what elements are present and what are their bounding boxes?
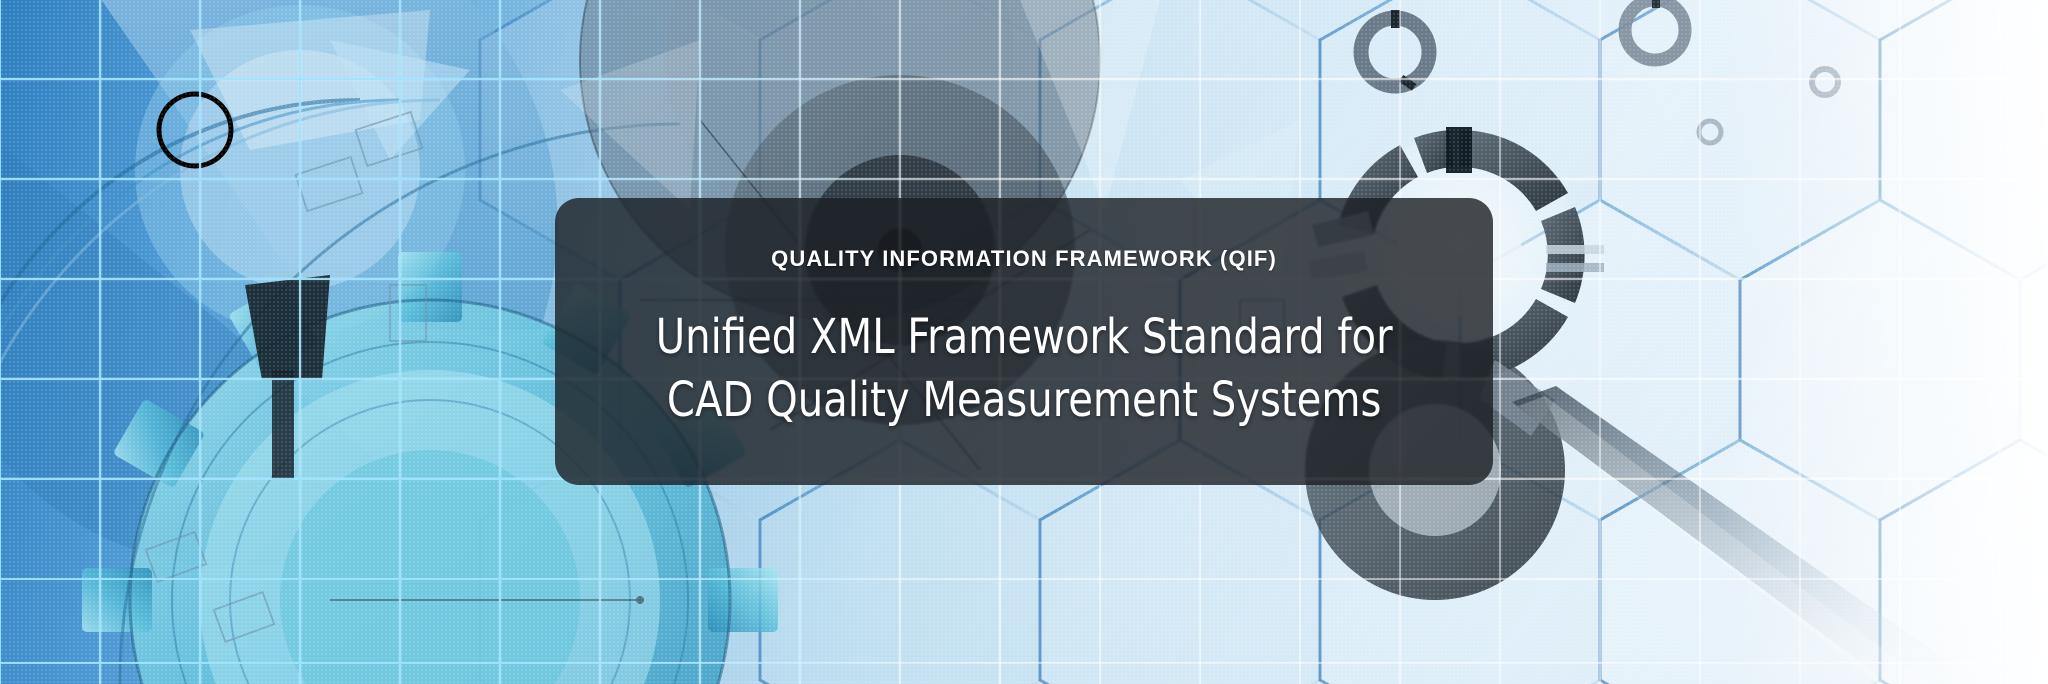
right-white-fade (1718, 0, 2048, 684)
hero-banner: QUALITY INFORMATION FRAMEWORK (QIF) Unif… (0, 0, 2048, 684)
headline-line-2: CAD Quality Measurement Systems (667, 369, 1382, 431)
headline-line-1: Unified XML Framework Standard for (656, 306, 1393, 368)
title-card: QUALITY INFORMATION FRAMEWORK (QIF) Unif… (555, 198, 1493, 485)
eyebrow-label: QUALITY INFORMATION FRAMEWORK (QIF) (771, 246, 1277, 272)
